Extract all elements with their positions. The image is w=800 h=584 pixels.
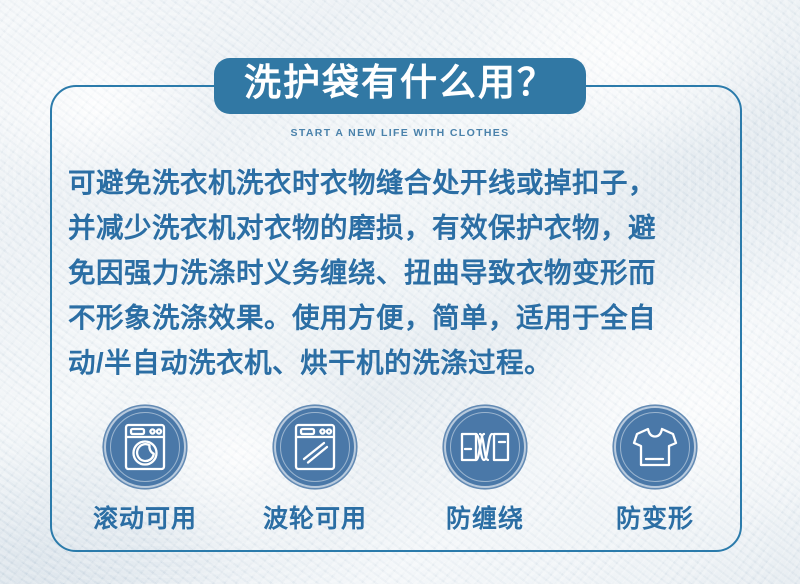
title-banner: 洗护袋有什么用？	[0, 55, 800, 117]
description-paragraph: 可避免洗衣机洗衣时衣物缝合处开线或掉扣子， 并减少洗衣机对衣物的磨损，有效保护衣…	[68, 160, 740, 385]
description-line: 可避免洗衣机洗衣时衣物缝合处开线或掉扣子，	[68, 160, 740, 205]
feature-item-anti-deform: 防变形	[580, 408, 730, 535]
feature-label: 防变形	[616, 499, 694, 535]
feature-item-front-load: 滚动可用	[70, 408, 220, 535]
description-line: 动/半自动洗衣机、烘干机的洗涤过程。	[68, 340, 740, 385]
subtitle-text: START A NEW LIFE WITH CLOTHES	[0, 127, 800, 139]
description-line: 不形象洗涤效果。使用方便，简单，适用于全自	[68, 295, 740, 340]
title-pill: 洗护袋有什么用？	[214, 58, 586, 114]
tshirt-icon	[616, 408, 694, 486]
page-title: 洗护袋有什么用？	[244, 64, 556, 103]
description-line: 并减少洗衣机对衣物的磨损，有效保护衣物，避	[68, 205, 740, 250]
feature-label: 防缠绕	[446, 499, 524, 535]
feature-label: 滚动可用	[93, 499, 197, 535]
front-load-washer-icon	[106, 408, 184, 486]
feature-item-top-load: 波轮可用	[240, 408, 390, 535]
feature-label: 波轮可用	[263, 499, 367, 535]
feature-row: 滚动可用 波轮可用	[70, 408, 730, 535]
anti-tangle-icon	[446, 408, 524, 486]
feature-item-anti-tangle: 防缠绕	[410, 408, 560, 535]
top-load-washer-icon	[276, 408, 354, 486]
description-line: 免因强力洗涤时义务缠绕、扭曲导致衣物变形而	[68, 250, 740, 295]
